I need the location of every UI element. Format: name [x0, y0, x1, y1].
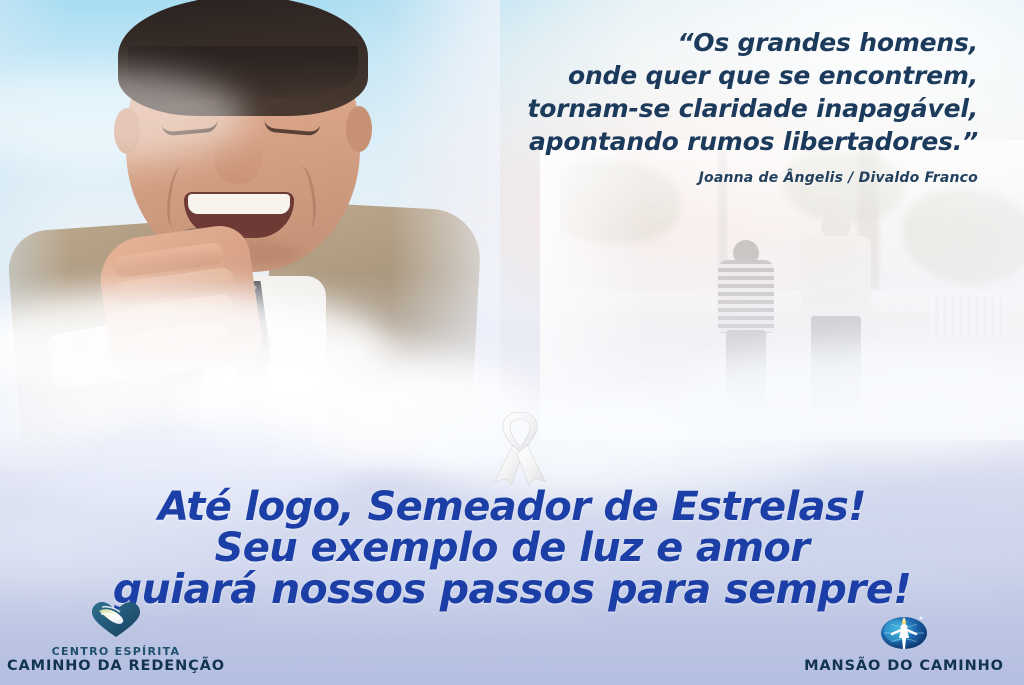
nose [214, 136, 262, 184]
quote-attribution: Joanna de Ângelis / Divaldo Franco [418, 170, 978, 186]
quote-line-3: tornam-se claridade inapagável, [418, 92, 978, 125]
hair [118, 0, 368, 116]
logo-centro-espirita[interactable]: CENTRO ESPÍRITA CAMINHO DA REDENÇÃO [6, 602, 226, 675]
background-photo [560, 150, 1024, 430]
logo-left-line-2: CAMINHO DA REDENÇÃO [6, 658, 226, 675]
figure-adult [801, 212, 871, 414]
quote-line-4: apontando rumos libertadores.” [418, 125, 978, 158]
white-ribbon-icon [487, 409, 553, 485]
figure-legs [726, 330, 766, 413]
clasped-hands-heart-icon [6, 602, 226, 642]
headline-line-2: Seu exemplo de luz e amor [0, 528, 1024, 569]
logo-right-line-2: MANSÃO DO CAMINHO [796, 658, 1012, 675]
quote-line-1: “Os grandes homens, [418, 26, 978, 59]
globe-figure-flame-icon [796, 611, 1012, 655]
logo-left-line-1: CENTRO ESPÍRITA [6, 645, 226, 658]
portrait-photo [8, 0, 478, 456]
ear-right [346, 106, 372, 152]
figure-torso [801, 236, 871, 321]
hand [95, 222, 265, 382]
headline-line-1: Até logo, Semeador de Estrelas! [0, 487, 1024, 528]
headline-block: Até logo, Semeador de Estrelas! Seu exem… [0, 487, 1024, 610]
cuff-button [78, 340, 87, 349]
figure-child [718, 240, 774, 414]
fence [931, 296, 1005, 341]
quote-line-2: onde quer que se encontrem, [418, 59, 978, 92]
teeth [188, 194, 290, 214]
foliage-icon [903, 189, 1024, 284]
figure-legs [811, 316, 861, 413]
ear-left [114, 108, 140, 154]
memorial-poster: “Os grandes homens, onde quer que se enc… [0, 0, 1024, 685]
logo-mansao-do-caminho[interactable]: MANSÃO DO CAMINHO [796, 611, 1012, 675]
quote-block: “Os grandes homens, onde quer que se enc… [418, 26, 978, 186]
figure-torso [718, 260, 774, 333]
